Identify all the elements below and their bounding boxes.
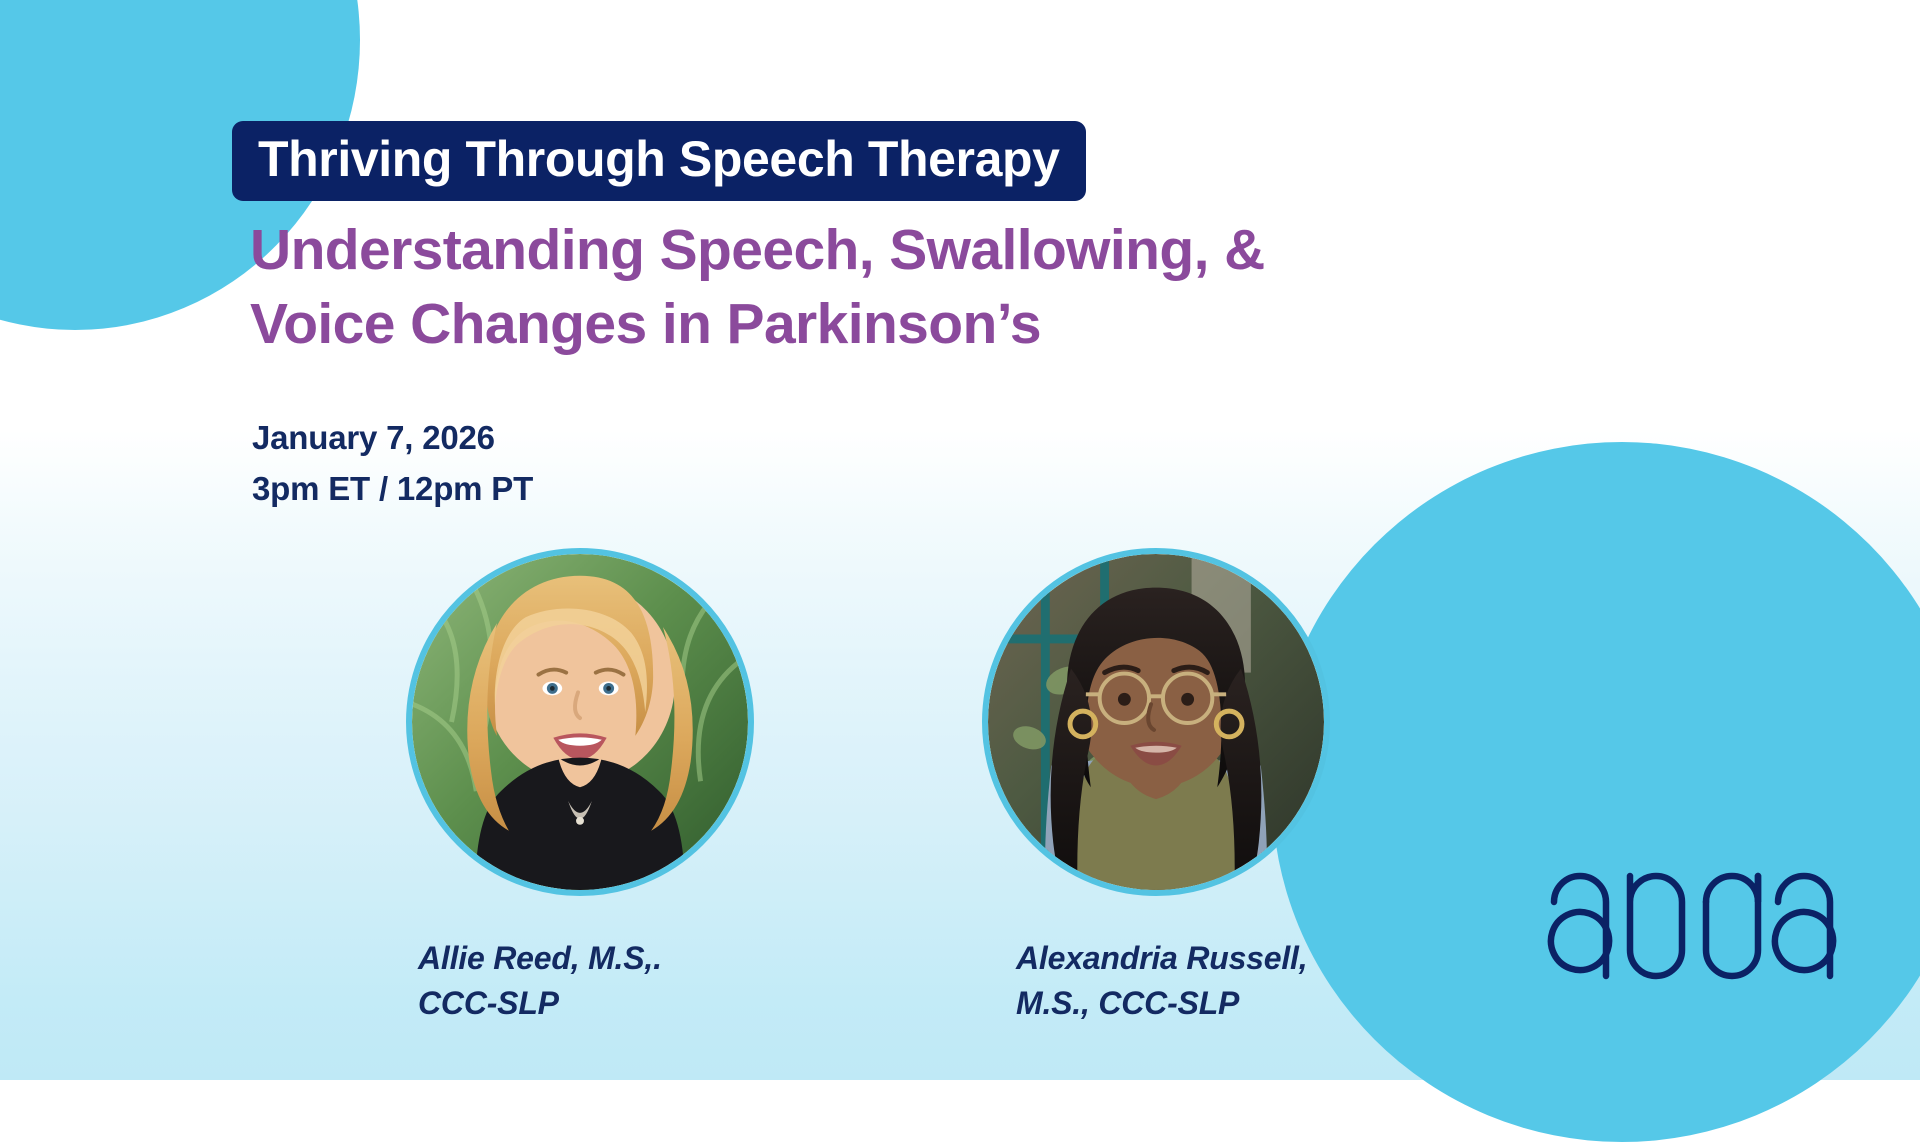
avatar [406,548,754,896]
allie-reed-headshot [412,554,748,890]
page-title: Understanding Speech, Swallowing, & Voic… [250,213,1650,361]
speaker-card: Allie Reed, M.S,. CCC-SLP [406,548,754,1027]
page-title-line-2: Voice Changes in Parkinson’s [250,287,1650,361]
event-date: January 7, 2026 [252,412,533,463]
speaker-name: Alexandria Russell, M.S., CCC-SLP [982,936,1330,1027]
event-schedule: January 7, 2026 3pm ET / 12pm PT [252,412,533,514]
speaker-name-line-2: M.S., CCC-SLP [1016,981,1330,1026]
speaker-name-line-2: CCC-SLP [418,981,754,1026]
speaker-name-line-1: Allie Reed, M.S,. [418,936,754,981]
event-time: 3pm ET / 12pm PT [252,463,533,514]
alexandria-russell-headshot [988,554,1324,890]
series-badge: Thriving Through Speech Therapy [232,121,1086,201]
speaker-name-line-1: Alexandria Russell, [1016,936,1330,981]
avatar [982,548,1330,896]
speaker-name: Allie Reed, M.S,. CCC-SLP [406,936,754,1027]
speaker-card: Alexandria Russell, M.S., CCC-SLP [982,548,1330,1027]
apda-logo [1546,868,1846,988]
page-title-line-1: Understanding Speech, Swallowing, & [250,213,1650,287]
